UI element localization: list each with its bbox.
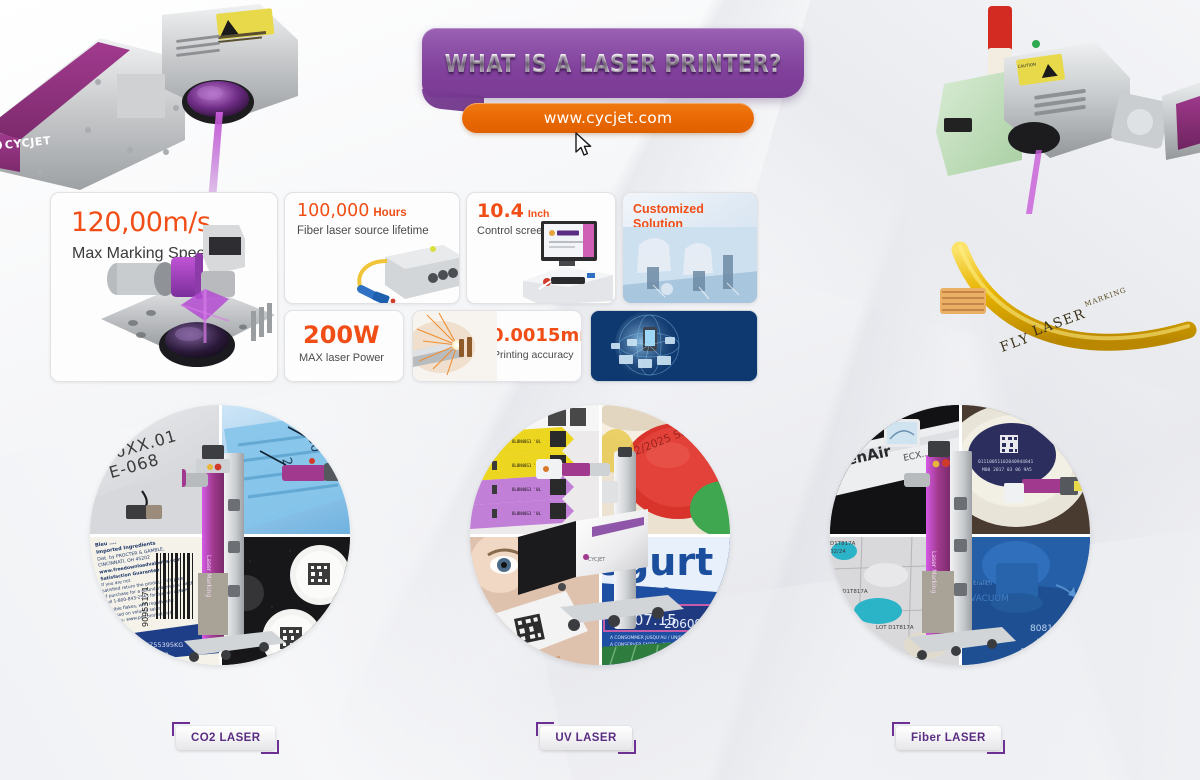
collage-divider-horizontal bbox=[470, 534, 730, 537]
svg-text:A CONSOMMER JUSQU'AU / UNIDAD: A CONSOMMER JUSQU'AU / UNIDAD IMBATE bbox=[610, 635, 706, 641]
svg-text:8L0N40G1 '0L: 8L0N40G1 '0L bbox=[512, 511, 541, 516]
feature-label-screen: Control screen bbox=[477, 225, 615, 237]
feature-label-hours: Fiber laser source lifetime bbox=[297, 225, 459, 237]
svg-text:LASER: LASER bbox=[1030, 306, 1088, 340]
svg-text:creme: creme bbox=[610, 580, 670, 602]
svg-text:LOT E002: LOT E002 bbox=[856, 633, 862, 659]
sample-cable-seal-tags: 8L0N40G1 '0L8L0N40G1 '0L 8L0N40G1 '0L8L0… bbox=[470, 405, 600, 535]
feature-card-printing-accuracy: 0.0015mm Printing accuracy bbox=[412, 310, 582, 382]
feature-value-screen: 10.4 bbox=[477, 202, 524, 221]
svg-text:LOT D1T817A: LOT D1T817A bbox=[876, 625, 914, 631]
svg-text:01110051102040944841: 01110051102040944841 bbox=[978, 459, 1034, 465]
laser-machine-right-image: CAUTION FLY LASER MARKING bbox=[930, 0, 1200, 400]
svg-text:ogurt: ogurt bbox=[600, 540, 713, 584]
feature-value-speed: 120,00m/s bbox=[71, 209, 277, 236]
product-label-uv[interactable]: UV LASER bbox=[540, 726, 632, 750]
feature-card-customized-solution: Customized Solution bbox=[622, 192, 758, 304]
product-label-uv-text: UV LASER bbox=[555, 732, 616, 744]
feature-label-speed: Max Marking Speed bbox=[72, 245, 277, 263]
feature-card-control-screen: 10.4Inch Control screen bbox=[466, 192, 616, 304]
laser-machine-left-image: CYCJET bbox=[0, 0, 310, 200]
svg-text:02/24: 02/24 bbox=[830, 597, 846, 603]
sample-product-label-barcode: Bleu .... Imported Ingredients Dist. by … bbox=[90, 535, 220, 665]
svg-text:90953171: 90953171 bbox=[141, 586, 150, 627]
sample-venair-hose: venAir ECX... bbox=[830, 405, 960, 535]
svg-text:FLY: FLY bbox=[998, 330, 1033, 356]
svg-text:CYCJET: CYCJET bbox=[4, 134, 52, 152]
product-circle-uv: 8L0N40G1 '0L8L0N40G1 '0L 8L0N40G1 '0L8L0… bbox=[470, 405, 730, 665]
svg-text:20609: 20609 bbox=[664, 617, 702, 631]
sample-can-lid-code: 01110051102040944841 M00 2017 03 06 9A5 bbox=[960, 405, 1090, 535]
feature-sublabel-system: Linux, android & PC system Optional bbox=[647, 333, 751, 353]
svg-text:MARKING: MARKING bbox=[1083, 286, 1127, 309]
background-sweep-right bbox=[734, 0, 1200, 437]
fiber-source-photo bbox=[347, 227, 460, 304]
robot-welding-photo bbox=[623, 227, 758, 304]
feature-label-system: System optional bbox=[647, 319, 757, 331]
sample-handheld-qr-device bbox=[470, 535, 600, 665]
feature-unit-screen: Inch bbox=[528, 208, 550, 220]
website-url-button[interactable]: www.cycjet.com bbox=[462, 103, 754, 133]
sample-pharma-blister: D1T817A02/24 LOT D1T817A02/24 LOT D1T817… bbox=[830, 535, 960, 665]
feature-value-accuracy: 0.0015mm bbox=[491, 327, 581, 345]
svg-text:8L0N40G1 '0L: 8L0N40G1 '0L bbox=[512, 487, 541, 492]
svg-text:D1T817A: D1T817A bbox=[830, 541, 856, 547]
feature-value-hours: 100,000 bbox=[297, 203, 369, 221]
feature-card-system-optional: System optional Linux, android & PC syst… bbox=[590, 310, 758, 382]
sample-yogurt-pack: ogurt creme 23.07.15 20609 A CONSOMMER J… bbox=[600, 535, 730, 665]
sample-plastic-lids: 2/2025 SP bbox=[600, 405, 730, 535]
feature-label-power: MAX laser Power bbox=[299, 352, 403, 364]
feature-card-max-laser-power: 200W MAX laser Power bbox=[284, 310, 404, 382]
svg-text:8L0N40G1 '0L: 8L0N40G1 '0L bbox=[512, 463, 541, 468]
svg-text:Ultralith: Ultralith bbox=[968, 580, 992, 587]
poster-canvas: CYCJET bbox=[0, 0, 1200, 780]
title-banner: WHAT IS A LASER PRINTER? bbox=[422, 28, 804, 98]
feature-unit-hours: Hours bbox=[373, 207, 406, 219]
product-label-fiber[interactable]: Fiber LASER bbox=[896, 726, 1001, 750]
svg-text:LOT: LOT bbox=[1024, 653, 1036, 660]
feature-label-accuracy: Printing accuracy bbox=[493, 349, 581, 361]
product-circle-co2: 20XX.01 E-068 30 2 bbox=[90, 405, 350, 665]
svg-text:10~20: 10~20 bbox=[1036, 638, 1067, 648]
collage-divider-horizontal bbox=[830, 534, 1090, 537]
svg-text:M00 2017 03 06 9A5: M00 2017 03 06 9A5 bbox=[982, 467, 1032, 473]
feature-card-max-marking-speed: 120,00m/s Max Marking Speed bbox=[50, 192, 278, 382]
svg-text:VACUUM: VACUUM bbox=[970, 594, 1009, 604]
product-label-fiber-text: Fiber LASER bbox=[911, 732, 986, 744]
product-label-co2[interactable]: CO2 LASER bbox=[176, 726, 275, 750]
sample-vacuum-blue-part: VACUUM Ultralith 80814 1710~20 LOT bbox=[960, 535, 1090, 665]
svg-text:CAUTION: CAUTION bbox=[1017, 62, 1036, 69]
sample-qr-bottle-caps bbox=[220, 535, 350, 665]
feature-label-custom: Customized Solution bbox=[633, 202, 757, 232]
sample-blue-crate: 30 20 bbox=[220, 405, 350, 535]
page-title: WHAT IS A LASER PRINTER? bbox=[444, 49, 781, 78]
sample-carton-date-code: 20XX.01 E-068 bbox=[90, 405, 220, 535]
svg-text:(L) 370755395KG: (L) 370755395KG bbox=[126, 641, 183, 649]
feature-card-laser-lifetime: 100,000Hours Fiber laser source lifetime bbox=[284, 192, 460, 304]
feature-value-power: 200W bbox=[303, 323, 403, 347]
svg-text:EXP. 12/2018: EXP. 12/2018 bbox=[126, 651, 169, 659]
svg-text:LOT D1T817A: LOT D1T817A bbox=[830, 589, 868, 595]
svg-text:80814 17: 80814 17 bbox=[1030, 624, 1073, 634]
svg-text:8L0N40G1 '0L: 8L0N40G1 '0L bbox=[512, 439, 541, 444]
svg-text:02/24: 02/24 bbox=[830, 549, 846, 555]
svg-text:SER.NO 08236: SER.NO 08236 bbox=[882, 657, 923, 663]
collage-divider-horizontal bbox=[90, 534, 350, 537]
mouse-cursor-icon bbox=[575, 132, 593, 158]
product-label-co2-text: CO2 LASER bbox=[191, 732, 260, 744]
laser-sparks-photo bbox=[413, 311, 497, 382]
product-circle-fiber: venAir ECX... bbox=[830, 405, 1090, 665]
website-url-text: www.cycjet.com bbox=[544, 109, 673, 127]
